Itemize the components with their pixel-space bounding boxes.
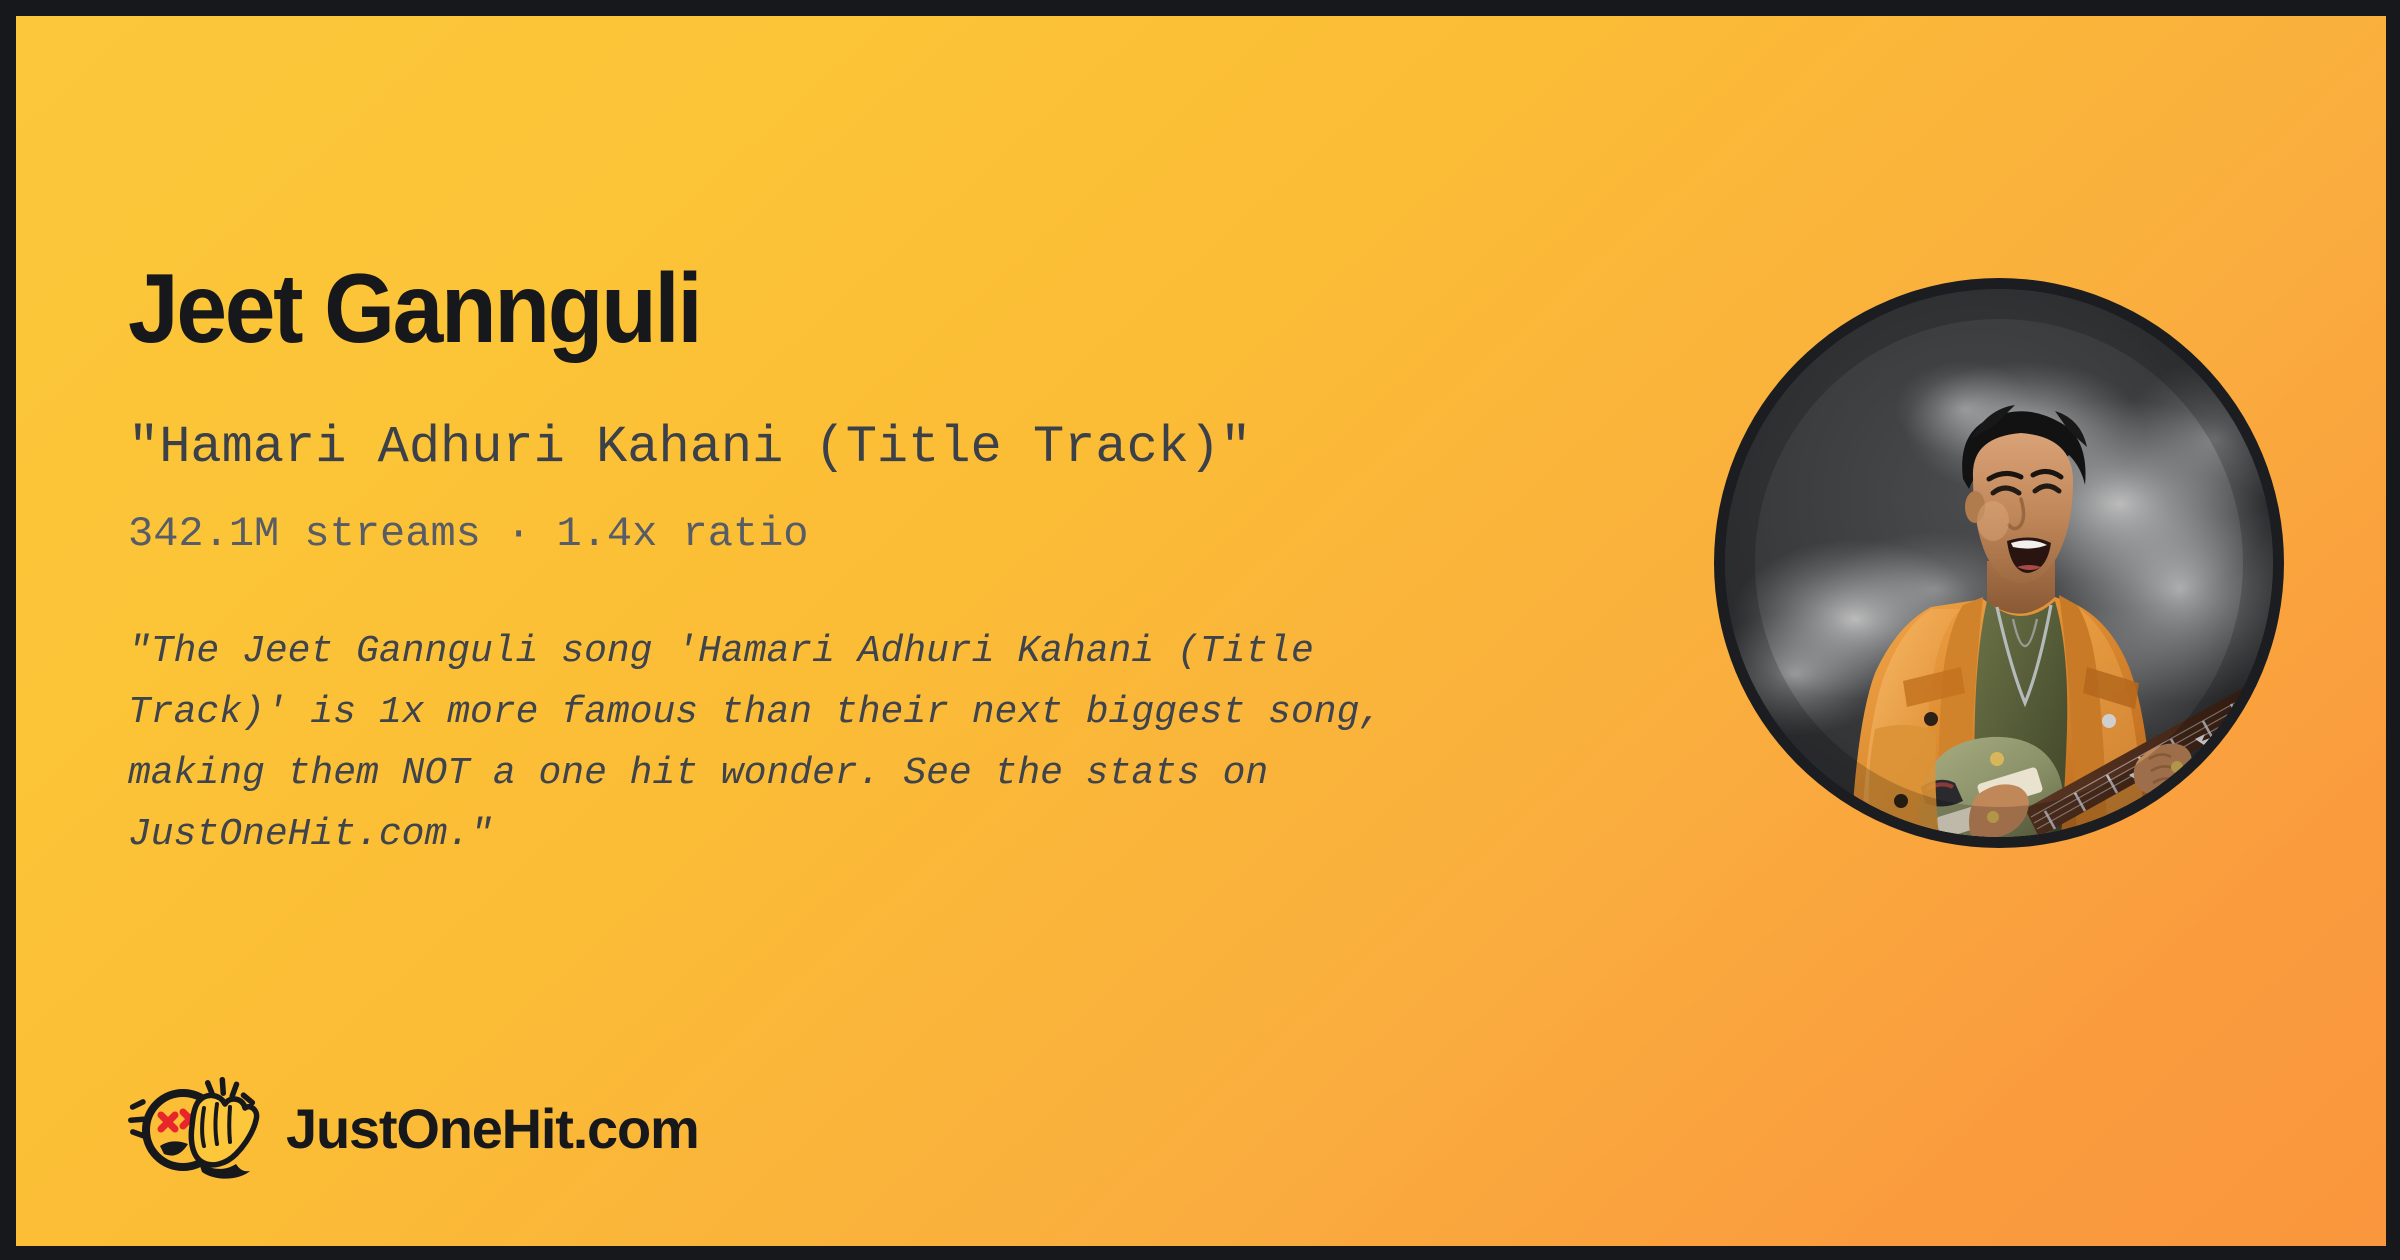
- artist-photo: [1725, 289, 2273, 837]
- brand-name: JustOneHit.com: [286, 1096, 699, 1161]
- artist-name: Jeet Gannguli: [128, 259, 700, 357]
- blurb-text: "The Jeet Gannguli song 'Hamari Adhuri K…: [128, 621, 1598, 865]
- artist-card-frame: Jeet Gannguli "Hamari Adhuri Kahani (Tit…: [0, 0, 2400, 1260]
- artist-portrait: [1714, 278, 2284, 848]
- artist-card-surface: Jeet Gannguli "Hamari Adhuri Kahani (Tit…: [16, 16, 2386, 1246]
- card-content: Jeet Gannguli "Hamari Adhuri Kahani (Tit…: [128, 16, 1628, 1246]
- stats-line: 342.1M streams · 1.4x ratio: [128, 510, 809, 558]
- facepalm-icon: [128, 1074, 260, 1182]
- brand-lockup[interactable]: JustOneHit.com: [128, 1074, 699, 1182]
- artist-portrait-clip: [1725, 289, 2273, 837]
- song-title: "Hamari Adhuri Kahani (Title Track)": [128, 419, 1251, 476]
